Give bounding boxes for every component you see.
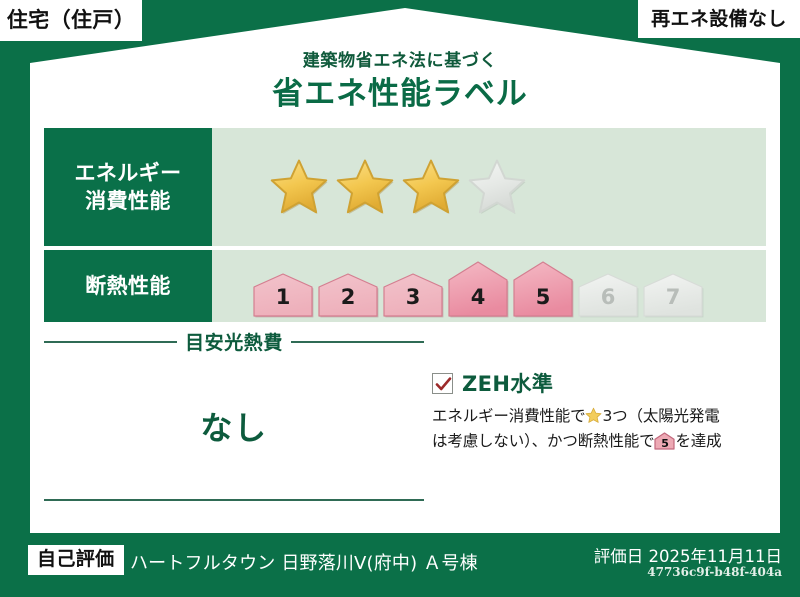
utility-cost-value: なし [44,403,424,449]
row-insulation-value: 1234567 [212,250,766,322]
house-shape-icon [577,272,639,318]
zeh-header: ZEH水準 [432,368,770,398]
row-energy-label-line2: 消費性能 [85,187,171,215]
title-subtitle: 建築物省エネ法に基づく [0,52,800,71]
zeh-description: エネルギー消費性能で 3つ（太陽光発電 は考慮しない）、かつ断熱性能で 5 を達… [432,404,770,454]
page-title: 省エネ性能ラベル [0,77,800,111]
row-insulation-label: 断熱性能 [44,250,212,322]
row-energy-label: エネルギー 消費性能 [44,128,212,246]
row-energy-value [212,128,766,246]
house-shape-icon [642,272,704,318]
insulation-level-2: 2 [317,272,379,318]
evaluation-date: 評価日 2025年11月11日 [594,543,782,567]
utility-cost-title: 目安光熱費 [185,328,283,355]
utility-cost-header: 目安光熱費 [44,328,424,355]
zeh-desc-part2: は考慮しない）、かつ断熱性能で [432,432,654,450]
insulation-level-3: 3 [382,272,444,318]
row-energy-consumption: エネルギー 消費性能 [44,128,766,246]
house-level-icon-number: 5 [654,438,675,449]
building-name: ハートフルタウン 日野落川Ⅴ(府中) Ａ号棟 [130,549,478,575]
badge-self-evaluation: 自己評価 [28,545,124,575]
zeh-desc-star-count: 3つ（太陽光発電 [602,407,719,425]
star-icon [585,407,602,424]
star-empty-icon [466,157,528,217]
star-filled-icon [400,157,462,217]
insulation-level-scale: 1234567 [252,260,704,318]
label-title-block: 建築物省エネ法に基づく 省エネ性能ラベル [0,52,800,111]
footer-bar: 自己評価 ハートフルタウン 日野落川Ⅴ(府中) Ａ号棟 評価日 2025年11月… [0,533,800,597]
zeh-title: ZEH水準 [462,368,553,398]
evaluation-id: 47736c9f-b48f-404a [647,565,782,579]
rule-right [291,341,424,343]
house-shape-icon [512,260,574,318]
checkbox-checked-icon [432,373,453,394]
insulation-level-7: 7 [642,272,704,318]
star-rating [268,157,528,217]
insulation-level-5: 5 [512,260,574,318]
insulation-level-4: 4 [447,260,509,318]
insulation-level-1: 1 [252,272,314,318]
zeh-standard-block: ZEH水準 エネルギー消費性能で 3つ（太陽光発電 は考慮しない）、かつ断熱性能… [432,368,770,454]
badge-building-type: 住宅（住戸） [0,0,142,41]
utility-cost-section: 目安光熱費 なし [44,328,424,501]
zeh-desc-part3: を達成 [675,432,721,450]
house-shape-icon [252,272,314,318]
rule-left [44,341,177,343]
zeh-desc-part1: エネルギー消費性能で [432,407,585,425]
row-insulation-label-line1: 断熱性能 [85,272,171,300]
star-filled-icon [334,157,396,217]
row-insulation-performance: 断熱性能 1234567 [44,250,766,322]
row-energy-label-line1: エネルギー [74,159,181,187]
house-shape-icon [382,272,444,318]
energy-label-root: 住宅（住戸） 再エネ設備なし 建築物省エネ法に基づく 省エネ性能ラベル エネルギ… [0,0,800,597]
metrics-section: エネルギー 消費性能 断熱性能 1234567 [44,128,766,326]
house-shape-icon [447,260,509,318]
utility-cost-bottom-rule [44,499,424,501]
badge-renewable-energy: 再エネ設備なし [638,0,800,38]
insulation-level-6: 6 [577,272,639,318]
star-filled-icon [268,157,330,217]
house-shape-icon [317,272,379,318]
house-level-icon: 5 [654,432,675,450]
